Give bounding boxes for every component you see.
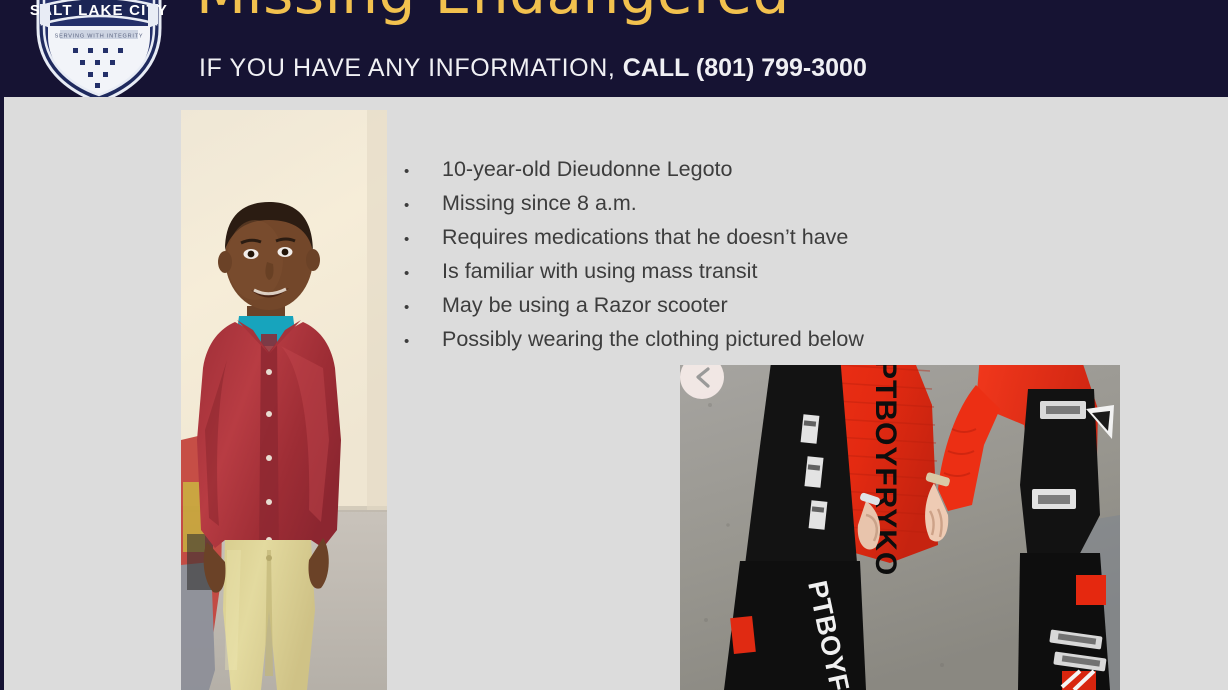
list-item: • Possibly wearing the clothing pictured…: [404, 322, 1044, 356]
salt-lake-city-police-badge-icon: SALT LAKE CITY SERVING WITH INTEGRITY: [28, 0, 170, 97]
list-item: • Requires medications that he doesn’t h…: [404, 220, 1044, 254]
bullet-icon: •: [404, 257, 442, 291]
list-item-label: Possibly wearing the clothing pictured b…: [442, 322, 864, 356]
list-item-label: Is familiar with using mass transit: [442, 254, 757, 288]
clothing-reference-photo: PTBOYFRYKO PTBOYFRYKO: [680, 365, 1120, 690]
list-item-label: 10-year-old Dieudonne Legoto: [442, 152, 732, 186]
list-item: • 10-year-old Dieudonne Legoto: [404, 152, 1044, 186]
missing-person-slide: SALT LAKE CITY SERVING WITH INTEGRITY: [0, 0, 1228, 690]
list-item-label: Missing since 8 a.m.: [442, 186, 637, 220]
bullet-icon: •: [404, 325, 442, 359]
page-title: Missing Endangered: [196, 0, 790, 22]
missing-person-details-list: • 10-year-old Dieudonne Legoto • Missing…: [404, 152, 1044, 356]
bullet-icon: •: [404, 291, 442, 325]
bullet-icon: •: [404, 155, 442, 189]
header-banner: SALT LAKE CITY SERVING WITH INTEGRITY: [0, 0, 1228, 97]
list-item: • May be using a Razor scooter: [404, 288, 1044, 322]
bullet-icon: •: [404, 189, 442, 223]
list-item: • Is familiar with using mass transit: [404, 254, 1044, 288]
svg-text:SERVING WITH INTEGRITY: SERVING WITH INTEGRITY: [55, 34, 144, 40]
list-item-label: May be using a Razor scooter: [442, 288, 728, 322]
tip-phone-number: CALL (801) 799-3000: [623, 54, 867, 82]
list-item: • Missing since 8 a.m.: [404, 186, 1044, 220]
missing-child-photo: [181, 110, 387, 690]
left-edge-accent-strip: [0, 97, 4, 690]
information-phone-line: IF YOU HAVE ANY INFORMATION, CALL (801) …: [199, 56, 867, 81]
svg-text:SALT LAKE CITY: SALT LAKE CITY: [30, 2, 168, 19]
bullet-icon: •: [404, 223, 442, 257]
list-item-label: Requires medications that he doesn’t hav…: [442, 220, 848, 254]
information-lead-text: IF YOU HAVE ANY INFORMATION,: [199, 54, 615, 82]
